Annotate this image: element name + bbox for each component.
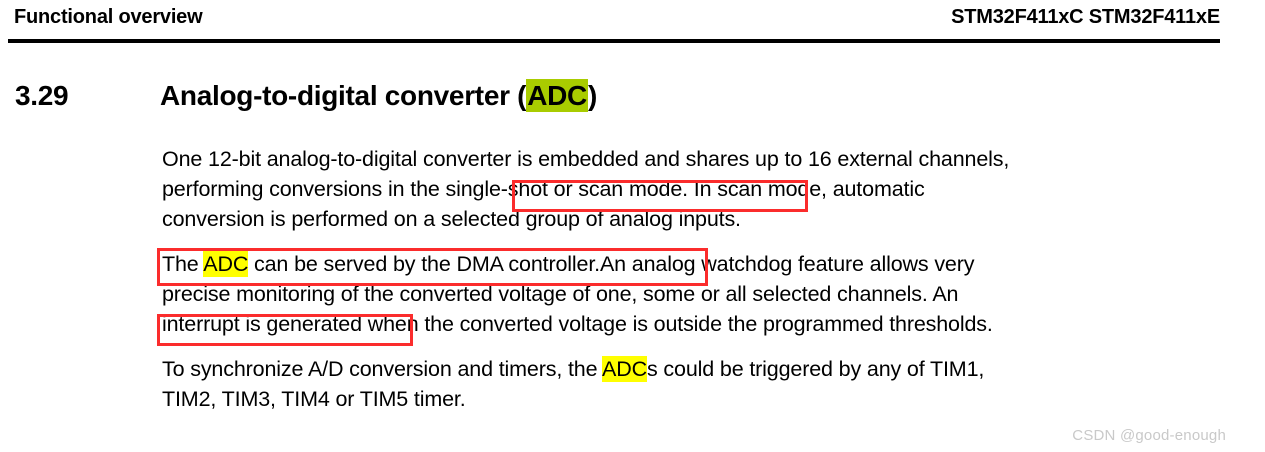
p1-line3-text: conversion is performed on a selected gr… xyxy=(162,207,741,231)
p3-line1-text-before: To synchronize A/D conversion and timers… xyxy=(162,357,602,381)
p1-line1-text: One 12-bit analog-to-digital converter i… xyxy=(162,147,1009,171)
page-header: Functional overview STM32F411xC STM32F41… xyxy=(0,0,1265,44)
paragraph-2-line-3: interrupt is generated when the converte… xyxy=(162,309,1232,339)
paragraph-1-line-3: conversion is performed on a selected gr… xyxy=(162,204,1232,234)
header-left-title: Functional overview xyxy=(14,6,202,29)
paragraph-2-line-1: The ADC can be served by the DMA control… xyxy=(162,249,1232,279)
paragraph-3-line-1: To synchronize A/D conversion and timers… xyxy=(162,354,1232,384)
p2-line1-text-after: An analog watchdog feature allows very xyxy=(600,252,974,276)
p2-line1-text-before: The xyxy=(162,252,203,276)
paragraph-3: To synchronize A/D conversion and timers… xyxy=(162,354,1232,414)
paragraph-2: The ADC can be served by the DMA control… xyxy=(162,249,1232,339)
header-rule-divider xyxy=(8,39,1220,43)
section-title-prefix: Analog-to-digital converter ( xyxy=(160,80,526,111)
p2-line1-boxed-tail: can be served by the DMA controller. xyxy=(248,252,600,276)
paragraph-3-line-2: TIM2, TIM3, TIM4 or TIM5 timer. xyxy=(162,384,1232,414)
paragraph-1-line-2: performing conversions in the single-sho… xyxy=(162,174,1232,204)
header-right-title: STM32F411xC STM32F411xE xyxy=(951,6,1220,29)
p3-line1-highlight-adc: ADC xyxy=(602,356,647,382)
section-title: Analog-to-digital converter (ADC) xyxy=(160,80,597,112)
p2-line1-highlight-adc: ADC xyxy=(203,251,248,277)
paragraph-2-line-2: precise monitoring of the converted volt… xyxy=(162,279,1232,309)
paragraph-1-line-1: One 12-bit analog-to-digital converter i… xyxy=(162,144,1232,174)
p1-line2-boxed-phrase: single-shot or scan mode. xyxy=(446,177,688,201)
p2-line3-text-after: when the converted voltage is outside th… xyxy=(368,312,993,336)
body-text: One 12-bit analog-to-digital converter i… xyxy=(162,144,1232,429)
paragraph-1: One 12-bit analog-to-digital converter i… xyxy=(162,144,1232,234)
section-title-suffix: ) xyxy=(588,80,597,111)
section-heading: 3.29 Analog-to-digital converter (ADC) xyxy=(0,80,1265,120)
section-title-highlight-adc: ADC xyxy=(526,79,588,112)
p2-line3-boxed-phrase: interrupt is generated xyxy=(162,312,368,336)
watermark-text: CSDN @good-enough xyxy=(1072,427,1226,444)
p3-line2-text: TIM2, TIM3, TIM4 or TIM5 timer. xyxy=(162,387,466,411)
p3-line1-text-after: s could be triggered by any of TIM1, xyxy=(647,357,984,381)
p2-line2-text: precise monitoring of the converted volt… xyxy=(162,282,958,306)
p1-line2-text-before: performing conversions in the xyxy=(162,177,446,201)
p1-line2-text-after: In scan mode, automatic xyxy=(688,177,925,201)
section-number: 3.29 xyxy=(15,80,68,112)
